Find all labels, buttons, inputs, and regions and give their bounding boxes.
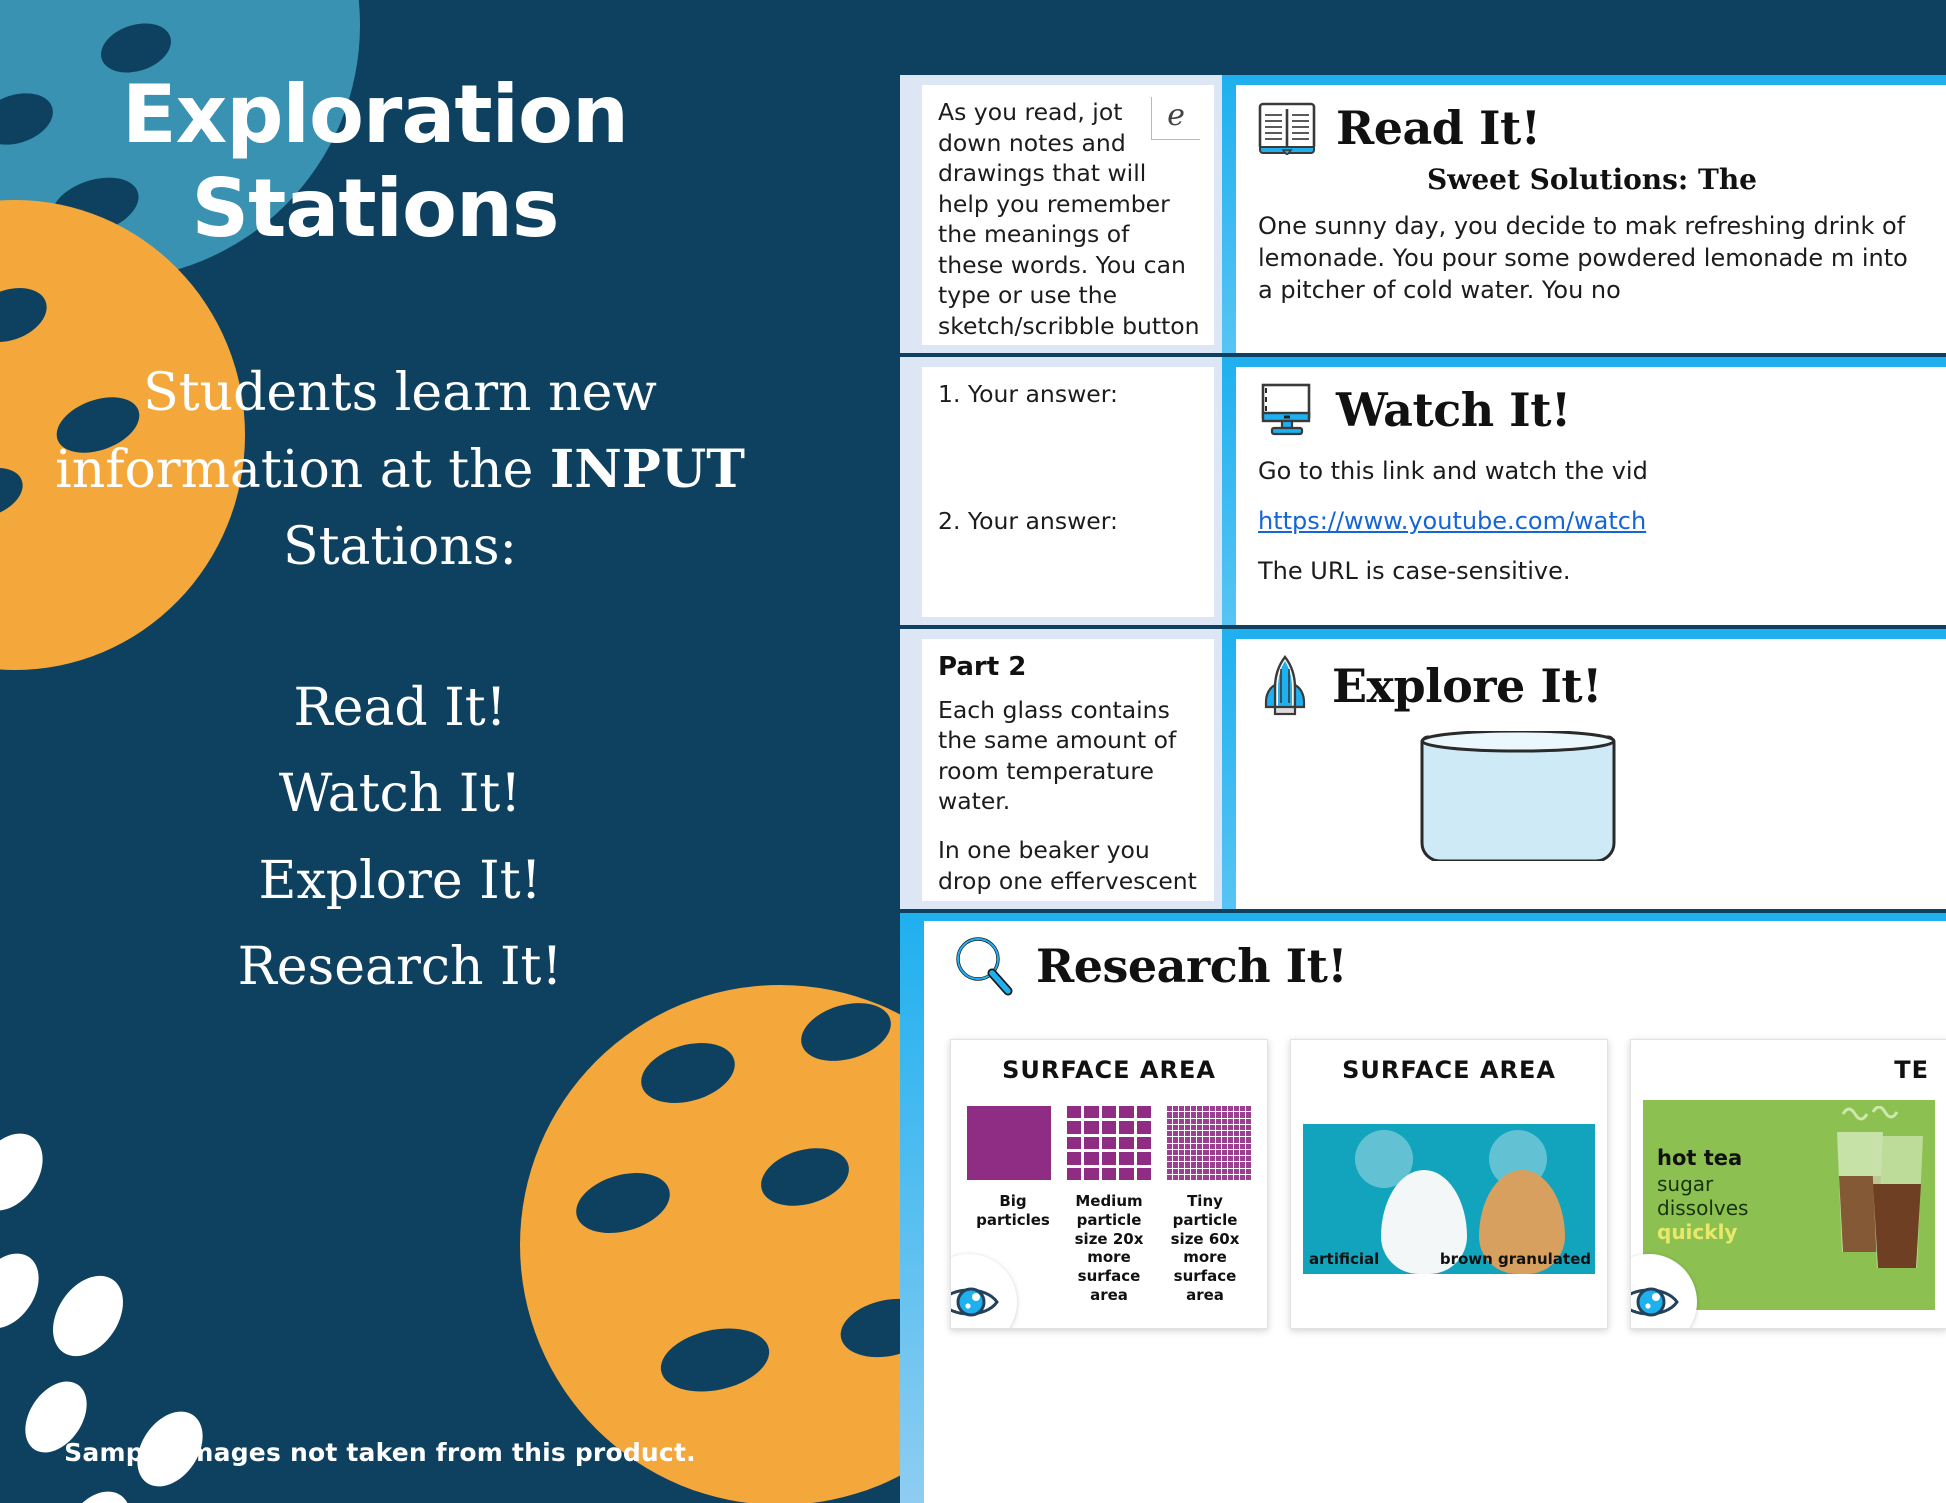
screenshot-strip-read-it: ℯ As you read, jot down notes and drawin…: [900, 75, 1946, 353]
left-content-column: Exploration Stations Students learn new …: [0, 0, 880, 1503]
read-it-title: Read It!: [1336, 101, 1540, 155]
lead-emphasis: INPUT: [550, 439, 745, 500]
research-card-surface-area-particles[interactable]: SURFACE AREA: [950, 1039, 1268, 1329]
strip3-part2-card: Part 2 Each glass contains the same amou…: [922, 639, 1214, 901]
research-it-card: Research It! SURFACE AREA: [924, 921, 1946, 1503]
strip2-left-pane: 1. Your answer: 2. Your answer:: [900, 357, 1222, 625]
research-cards: SURFACE AREA: [950, 1039, 1946, 1329]
station-research-it: Research It!: [40, 924, 760, 1010]
read-it-subtitle: Sweet Solutions: The: [1258, 163, 1926, 196]
strip3-left-pane: Part 2 Each glass contains the same amou…: [900, 629, 1222, 909]
label-artificial: artificial: [1309, 1250, 1379, 1268]
watch-it-card: Watch It! Go to this link and watch the …: [1236, 367, 1946, 625]
screenshot-strip-research-it: Research It! SURFACE AREA: [900, 913, 1946, 1503]
particle-size-diagram: [963, 1106, 1255, 1180]
research-card-temperature[interactable]: TE hot tea: [1630, 1039, 1946, 1329]
station-read-it: Read It!: [40, 665, 760, 751]
answer-field-1[interactable]: 1. Your answer:: [938, 379, 1200, 410]
station-list: Read It! Watch It! Explore It! Research …: [40, 665, 760, 1010]
label-brown-granulated: brown granulated: [1440, 1250, 1591, 1268]
watch-it-title: Watch It!: [1336, 383, 1571, 437]
part-2-paragraph-2: In one beaker you drop one effervescent …: [938, 835, 1200, 901]
label-hot-tea: hot tea: [1657, 1146, 1748, 1172]
tiny-particle-grid: [1167, 1106, 1251, 1180]
medium-particle-grid: [1067, 1106, 1151, 1180]
strip2-answer-card: 1. Your answer: 2. Your answer:: [922, 367, 1214, 617]
label-sugar: sugar: [1657, 1172, 1713, 1196]
caption-medium: Medium particle size 20x more surface ar…: [1061, 1192, 1157, 1305]
card-3-title: TE: [1643, 1056, 1935, 1084]
explore-it-header: Explore It!: [1258, 655, 1926, 717]
card-2-title: SURFACE AREA: [1303, 1056, 1595, 1084]
temperature-caption: hot tea sugar dissolves quickly: [1657, 1146, 1748, 1245]
page-title: Exploration Stations: [0, 68, 750, 257]
monitor-icon: [1258, 383, 1316, 437]
lead-part-2: Stations:: [283, 517, 517, 577]
strip2-right-pane: Watch It! Go to this link and watch the …: [1222, 357, 1946, 625]
explore-it-card: Explore It!: [1236, 639, 1946, 909]
lead-paragraph: Students learn new information at the IN…: [40, 355, 760, 586]
open-book-icon: [1258, 101, 1316, 155]
read-it-card: Read It! Sweet Solutions: The One sunny …: [1236, 85, 1946, 353]
video-link[interactable]: https://www.youtube.com/watch: [1258, 507, 1926, 535]
scribble-icon: ℯ: [1151, 97, 1200, 140]
big-particle-square: [967, 1106, 1051, 1180]
card-1-title: SURFACE AREA: [963, 1056, 1255, 1084]
read-it-header: Read It!: [1258, 101, 1926, 155]
research-card-surface-area-sugar[interactable]: SURFACE AREA artificial brown granulated: [1290, 1039, 1608, 1329]
label-quickly: quickly: [1657, 1220, 1737, 1244]
research-it-title: Research It!: [1036, 939, 1347, 993]
watch-it-body: Go to this link and watch the vid: [1258, 455, 1926, 487]
station-watch-it: Watch It!: [40, 751, 760, 837]
sample-screenshots: ℯ As you read, jot down notes and drawin…: [900, 0, 1946, 1503]
explore-it-title: Explore It!: [1332, 659, 1602, 713]
read-it-body: One sunny day, you decide to mak refresh…: [1258, 210, 1926, 306]
strip1-left-pane: ℯ As you read, jot down notes and drawin…: [900, 75, 1222, 353]
watch-it-note: The URL is case-sensitive.: [1258, 555, 1926, 587]
sugar-comparison-panel: artificial brown granulated: [1303, 1124, 1595, 1274]
screenshot-strip-explore-it: Part 2 Each glass contains the same amou…: [900, 629, 1946, 909]
title-line-2: Stations: [0, 162, 750, 256]
answer-field-2[interactable]: 2. Your answer:: [938, 506, 1200, 537]
beaker-illustration: [1258, 721, 1926, 851]
part-2-paragraph-1: Each glass contains the same amount of r…: [938, 695, 1200, 817]
strip1-note-card: ℯ As you read, jot down notes and drawin…: [922, 85, 1214, 345]
part-2-heading: Part 2: [938, 651, 1200, 685]
research-it-header: Research It!: [950, 935, 1946, 997]
strip3-right-pane: Explore It!: [1222, 629, 1946, 909]
watch-it-header: Watch It!: [1258, 383, 1926, 437]
strip1-right-pane: Read It! Sweet Solutions: The One sunny …: [1222, 75, 1946, 353]
disclaimer-note: Sample images not taken from this produc…: [0, 1438, 760, 1467]
label-dissolves: dissolves: [1657, 1196, 1748, 1220]
magnifier-icon: [950, 935, 1016, 997]
rocket-icon: [1258, 655, 1312, 717]
title-line-1: Exploration: [0, 68, 750, 162]
poster-canvas: Exploration Stations Students learn new …: [0, 0, 1946, 1503]
station-explore-it: Explore It!: [40, 838, 760, 924]
caption-tiny: Tiny particle size 60x more surface area: [1157, 1192, 1253, 1305]
screenshot-strip-watch-it: 1. Your answer: 2. Your answer:: [900, 357, 1946, 625]
